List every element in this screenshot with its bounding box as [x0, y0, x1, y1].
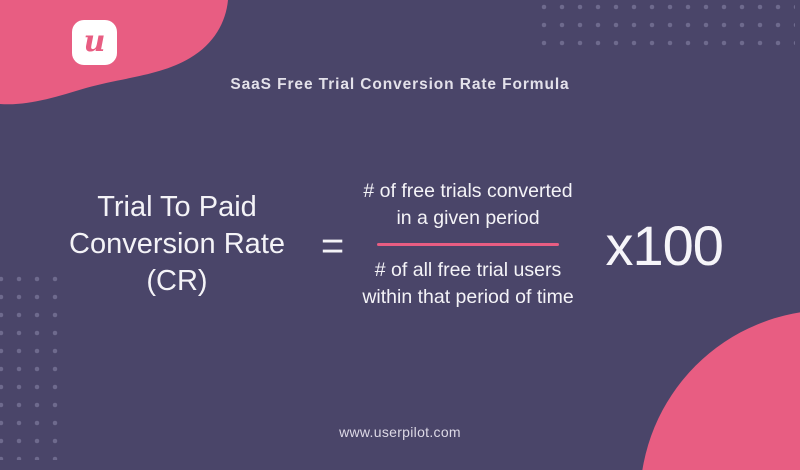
fraction-denominator: # of all free trial users within that pe…	[361, 246, 576, 311]
formula-label: Trial To Paid Conversion Rate (CR)	[50, 189, 305, 300]
footer-url: www.userpilot.com	[0, 424, 800, 440]
dot-grid-top-right	[533, 0, 795, 50]
equals-sign: =	[305, 226, 361, 266]
fraction-numerator: # of free trials converted in a given pe…	[361, 178, 576, 243]
logo-u-glyph: u	[84, 27, 106, 57]
infographic-canvas: u SaaS Free Trial Conversion Rate Formul…	[0, 0, 800, 470]
multiplier-x100: x100	[576, 218, 751, 274]
formula-row: Trial To Paid Conversion Rate (CR) = # o…	[0, 178, 800, 311]
bottom-right-pink-circle	[640, 310, 800, 470]
fraction: # of free trials converted in a given pe…	[361, 178, 576, 311]
page-title: SaaS Free Trial Conversion Rate Formula	[0, 76, 800, 94]
userpilot-logo: u	[72, 20, 117, 65]
